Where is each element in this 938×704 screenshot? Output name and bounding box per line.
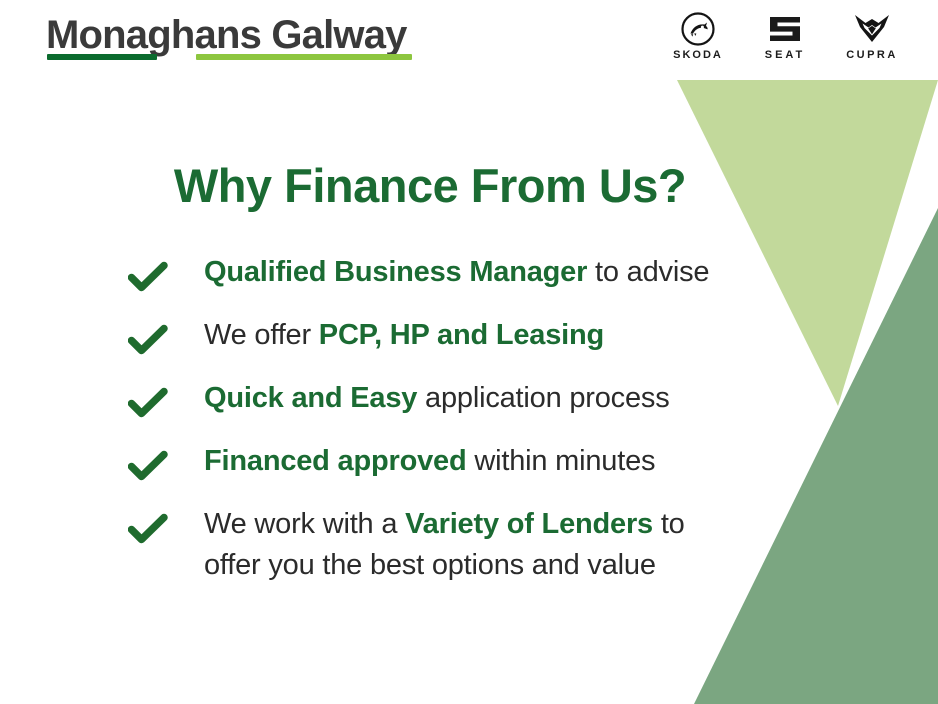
benefit-row: Quick and Easy application process <box>128 378 828 441</box>
benefit-row: We work with a Variety of Lenders tooffe… <box>128 504 828 586</box>
benefit-plain: within minutes <box>467 445 656 477</box>
benefit-highlight: Qualified Business Manager <box>204 256 587 288</box>
benefit-plain: to <box>653 508 685 540</box>
slide-body: Why Finance From Us? Qualified Business … <box>0 0 938 704</box>
logo-underline-dark <box>47 54 157 60</box>
benefit-text: Quick and Easy application process <box>204 378 828 419</box>
benefit-plain: to advise <box>587 256 709 288</box>
manufacturer-logos: SKODA SEAT CUPRA <box>660 10 910 74</box>
benefit-highlight: PCP, HP and Leasing <box>319 319 604 351</box>
dealer-logo: Monaghans Galway <box>46 12 476 74</box>
cupra-logo-icon <box>852 10 892 48</box>
benefit-text: Qualified Business Manager to advise <box>204 252 828 293</box>
dealer-name: Monaghans Galway <box>46 12 407 58</box>
benefit-row: Financed approved within minutes <box>128 441 828 504</box>
check-mark-icon <box>128 321 174 359</box>
benefit-text: We work with a Variety of Lenders tooffe… <box>204 504 828 586</box>
check-mark-icon <box>128 510 174 548</box>
benefit-highlight: Quick and Easy <box>204 382 417 414</box>
benefit-row: Qualified Business Manager to advise <box>128 252 828 315</box>
benefit-plain: offer you the best options and value <box>204 549 656 581</box>
seat-logo-icon <box>765 10 805 48</box>
check-mark-icon <box>128 384 174 422</box>
benefit-text: We offer PCP, HP and Leasing <box>204 315 828 356</box>
benefit-highlight: Financed approved <box>204 445 467 477</box>
skoda-wordmark: SKODA <box>673 49 723 62</box>
benefit-plain: We offer <box>204 319 319 351</box>
check-mark-icon <box>128 258 174 296</box>
marque-cupra: CUPRA <box>834 10 910 62</box>
benefit-row: We offer PCP, HP and Leasing <box>128 315 828 378</box>
benefits-list: Qualified Business Manager to adviseWe o… <box>128 252 828 586</box>
benefit-highlight: Variety of Lenders <box>405 508 653 540</box>
finance-benefits-slide: Monaghans Galway SKODA <box>0 0 938 704</box>
benefit-plain: application process <box>417 382 669 414</box>
cupra-wordmark: CUPRA <box>846 49 898 62</box>
logo-underline-light <box>196 54 412 60</box>
benefit-plain: We work with a <box>204 508 405 540</box>
marque-skoda: SKODA <box>660 10 736 62</box>
marque-seat: SEAT <box>747 10 823 62</box>
seat-wordmark: SEAT <box>765 49 806 62</box>
skoda-logo-icon <box>680 10 716 48</box>
check-mark-icon <box>128 447 174 485</box>
page-title: Why Finance From Us? <box>0 158 860 214</box>
slide-header: Monaghans Galway SKODA <box>0 0 938 82</box>
benefit-text: Financed approved within minutes <box>204 441 828 482</box>
